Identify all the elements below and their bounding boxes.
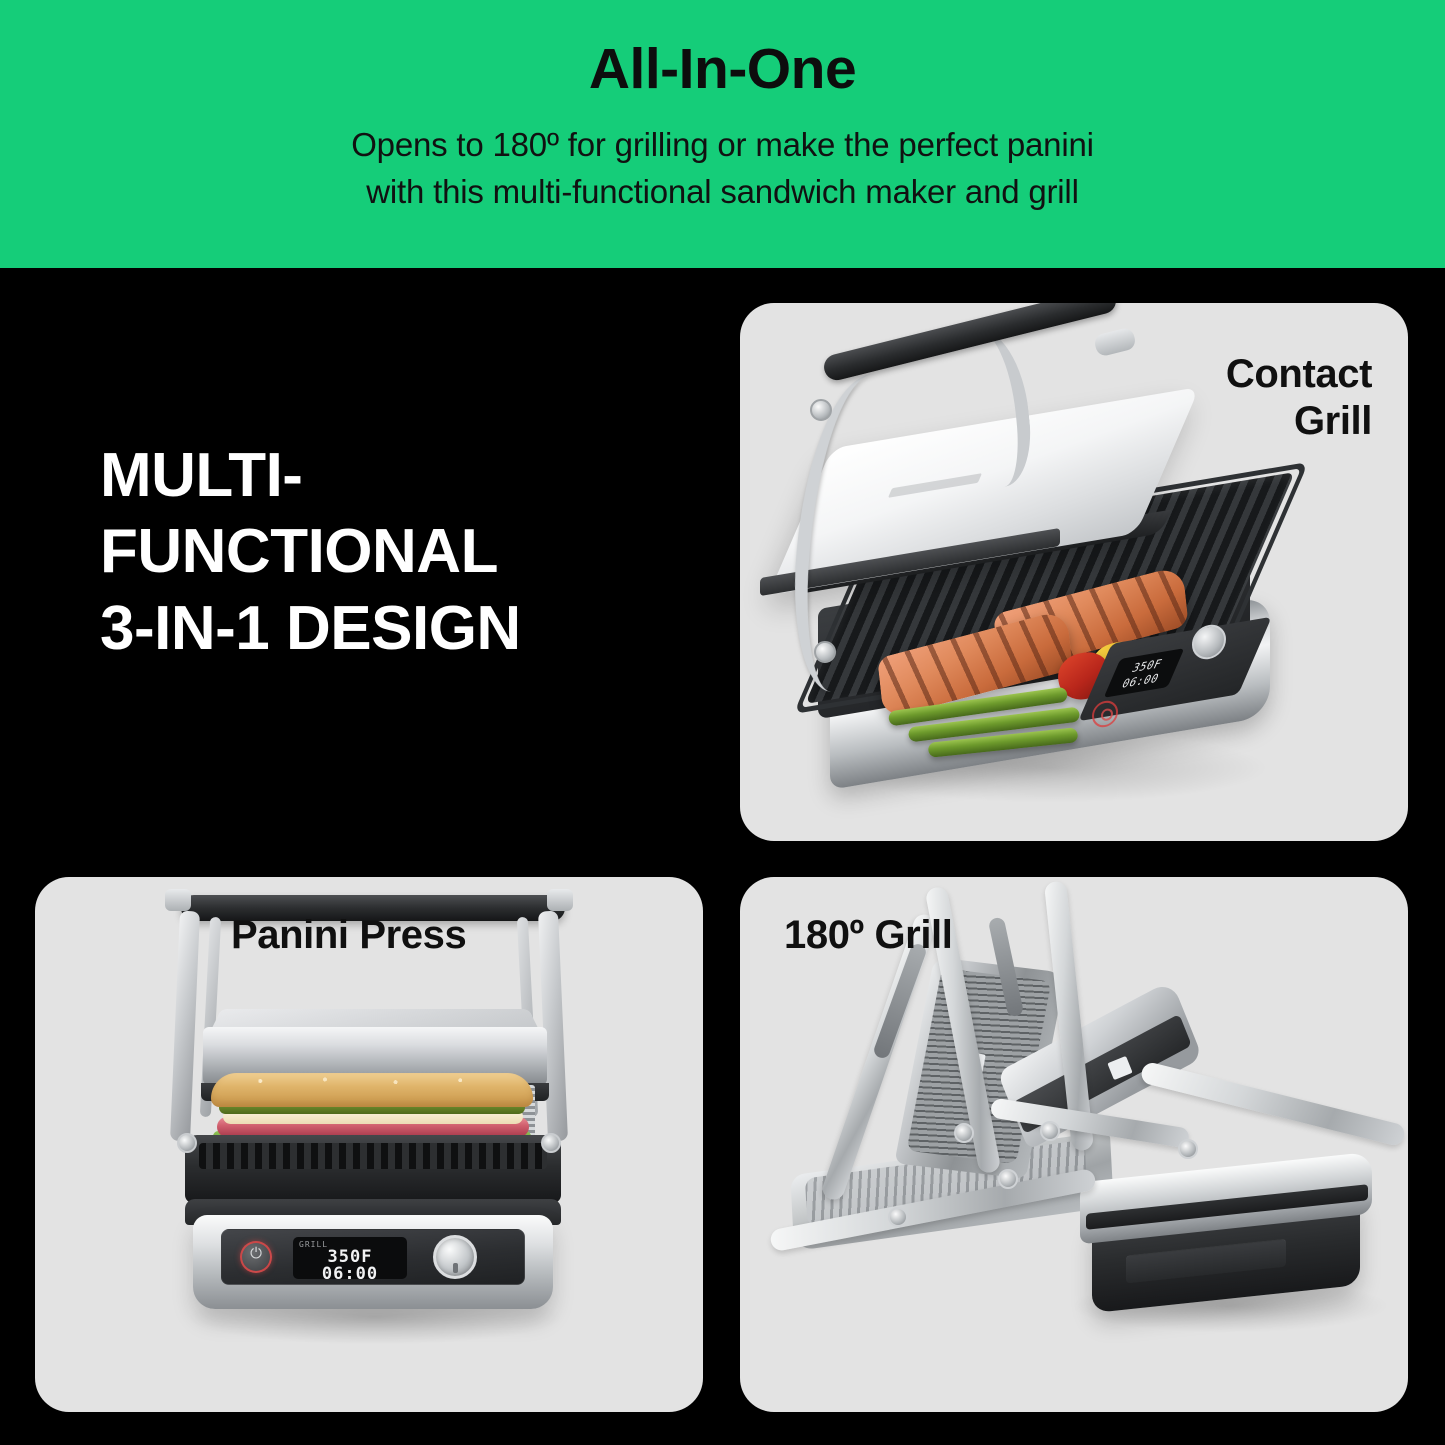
bread-top (211, 1073, 533, 1107)
hinge-arm-left (170, 911, 200, 1142)
card-panini-press: Panini Press (35, 877, 703, 1412)
card-label-180-grill: 180º Grill (784, 912, 952, 959)
feature-headline-line-2: FUNCTIONAL (100, 514, 700, 590)
hinge-pivot-bolt (954, 1123, 974, 1143)
display-timer: 06:00 (299, 1265, 401, 1283)
power-button[interactable] (240, 1241, 272, 1273)
feature-headline: MULTI- FUNCTIONAL 3-IN-1 DESIGN (100, 438, 700, 667)
hinge-pivot-bolt (814, 641, 836, 663)
feature-headline-line-3: 3-IN-1 DESIGN (100, 591, 700, 667)
hinge-pivot-bolt (1178, 1139, 1198, 1159)
handle-end-cap-right (547, 889, 573, 911)
hinge-arm-left (787, 370, 919, 697)
control-knob[interactable] (433, 1235, 477, 1279)
hinge-arm-right (538, 911, 568, 1142)
hinge-pivot-bolt (998, 1169, 1018, 1189)
hinge-pivot-bolt-left (177, 1133, 197, 1153)
card-contact-grill: Contact Grill (740, 303, 1408, 841)
handle-end-cap-left (165, 889, 191, 911)
feature-headline-line-1: MULTI- (100, 438, 700, 514)
hinge-pivot-bolt (888, 1207, 908, 1227)
page-subtitle-line-2: with this multi-functional sandwich make… (351, 169, 1094, 216)
page-title: All-In-One (589, 40, 856, 100)
hinge-pivot-bolt (810, 399, 832, 421)
handle-end-cap (1093, 326, 1137, 357)
header-banner: All-In-One Opens to 180º for grilling or… (0, 0, 1445, 268)
hinge-pivot-bolt (1040, 1121, 1060, 1141)
card-label-panini-press: Panini Press (231, 912, 466, 959)
page-subtitle-line-1: Opens to 180º for grilling or make the p… (351, 122, 1094, 169)
card-label-contact-grill: Contact Grill (1226, 351, 1372, 445)
lower-grill-plate (185, 1135, 561, 1203)
hinge-pivot-bolt-right (541, 1133, 561, 1153)
page-subtitle: Opens to 180º for grilling or make the p… (351, 122, 1094, 216)
card-180-grill: 180º Grill (740, 877, 1408, 1412)
display-screen: GRILL 350F 06:00 (293, 1237, 407, 1279)
product-feature-graphic: All-In-One Opens to 180º for grilling or… (0, 0, 1445, 1445)
